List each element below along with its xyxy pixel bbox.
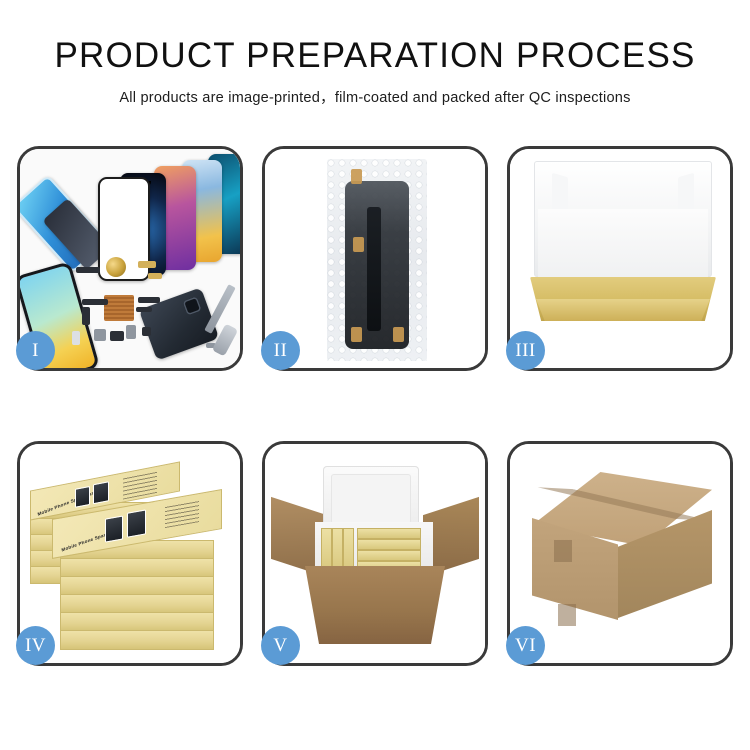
logic-board-part-icon	[104, 295, 134, 321]
box-phone-image-front-2	[127, 509, 146, 537]
box-text-lines-front	[165, 500, 199, 528]
step-badge-2: II	[261, 331, 300, 370]
part-strip-1	[76, 267, 100, 273]
part-strip-3	[148, 273, 162, 279]
stacked-box-front-3	[60, 576, 214, 596]
part-flex-2	[82, 307, 90, 325]
step-1-image	[20, 149, 240, 368]
page-subtitle: All products are image-printed，film-coat…	[0, 86, 750, 107]
part-small-2	[110, 331, 124, 341]
stacked-box-front-2	[60, 558, 214, 578]
inner-yellow-box-2	[332, 528, 343, 572]
page-title: PRODUCT PREPARATION PROCESS	[0, 38, 750, 75]
tape-piece-3	[351, 327, 362, 342]
carton-body-icon	[305, 566, 445, 644]
box-text-lines-back	[123, 471, 157, 500]
header: PRODUCT PREPARATION PROCESS All products…	[0, 38, 750, 107]
part-small-1	[94, 329, 106, 341]
part-flex-4	[136, 307, 152, 312]
inner-yellow-box-1	[321, 528, 332, 572]
sealed-carton-tab-bottom	[558, 604, 576, 626]
step-badge-3: III	[506, 331, 545, 370]
step-panel-4: Mobile Phone Spare Parts Mobile Phone S	[17, 441, 243, 666]
sealed-carton-tab-top	[554, 540, 572, 562]
phone-parts-scene	[20, 149, 240, 368]
step-4-image: Mobile Phone Spare Parts Mobile Phone S	[20, 444, 240, 663]
step-panel-6: VI	[507, 441, 733, 666]
box-phone-image-back-2	[93, 481, 109, 504]
inner-box-scene	[510, 149, 730, 368]
step-panel-3: III	[507, 146, 733, 371]
step-panel-1: I	[17, 146, 243, 371]
bubble-wrap-bag-icon	[327, 159, 427, 361]
part-small-3	[72, 331, 80, 345]
box-phone-image-front-1	[105, 515, 123, 542]
step-5-image	[265, 444, 485, 663]
stacked-box-front-5	[60, 612, 214, 632]
step-3-image	[510, 149, 730, 368]
part-strip-2	[138, 261, 156, 268]
step-badge-6: VI	[506, 626, 545, 665]
bubble-wrap-scene	[265, 149, 485, 368]
inner-yellow-box-6	[357, 550, 421, 561]
tape-piece-1	[351, 169, 362, 184]
process-step-grid: I II	[17, 146, 733, 691]
box-phone-image-back-1	[75, 486, 90, 508]
wrapped-flex-cable-icon	[367, 207, 381, 331]
step-6-image	[510, 444, 730, 663]
inner-yellow-box-4	[357, 528, 421, 539]
tape-piece-2	[353, 237, 364, 252]
step-badge-5: V	[261, 626, 300, 665]
inner-yellow-box-5	[357, 539, 421, 550]
product-preparation-infographic: PRODUCT PREPARATION PROCESS All products…	[0, 0, 750, 750]
stacked-box-front-4	[60, 594, 214, 614]
step-panel-2: II	[262, 146, 488, 371]
part-small-4	[126, 325, 136, 339]
stacked-box-front-6	[60, 630, 214, 650]
step-2-image	[265, 149, 485, 368]
part-flex-1	[82, 299, 108, 305]
tape-piece-4	[393, 327, 404, 342]
speaker-part-icon	[106, 257, 126, 277]
step-badge-1: I	[16, 331, 55, 370]
yellow-box-front-icon	[536, 299, 710, 321]
inner-yellow-box-3	[343, 528, 354, 572]
foam-carton-scene	[265, 444, 485, 663]
part-flex-3	[138, 297, 160, 303]
step-panel-5: V	[262, 441, 488, 666]
part-small-5	[142, 327, 151, 336]
sealed-carton-scene	[510, 444, 730, 663]
step-badge-4: IV	[16, 626, 55, 665]
stacked-boxes-scene: Mobile Phone Spare Parts Mobile Phone S	[20, 444, 240, 663]
foam-sheet-icon	[538, 209, 708, 277]
